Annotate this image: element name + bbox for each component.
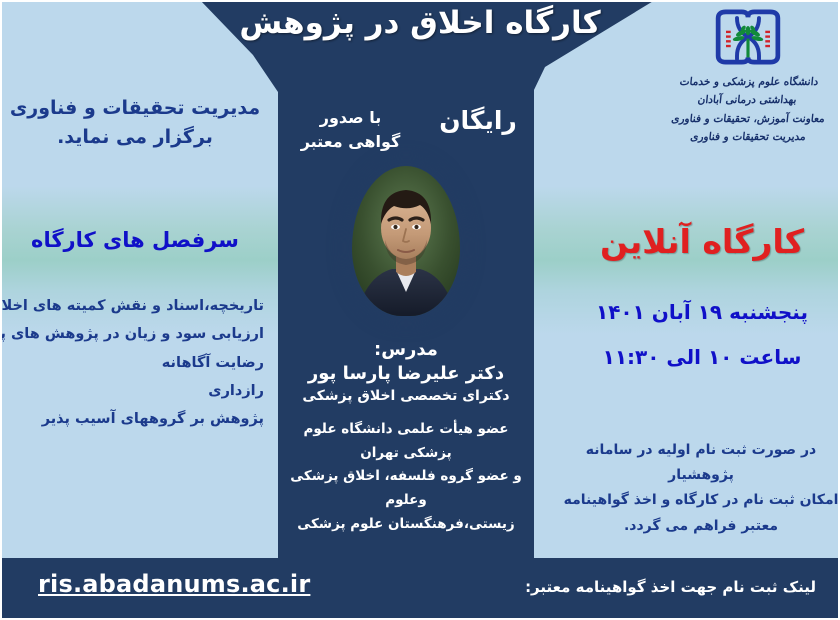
list-item: پژوهش بر گروههای آسیب پذیر (2, 405, 264, 433)
speaker-degree: دکترای تخصصی اخلاق پزشکی (290, 388, 522, 404)
speaker-name: مدرس:دکتر علیرضا پارسا پور (290, 338, 522, 387)
list-item: رازداری (2, 377, 264, 405)
list-item: تاریخچه،اسناد و نقش کمیته های اخلاق در پ… (2, 292, 264, 320)
logo-line: دانشگاه علوم پزشکی و خدمات بهداشتی درمان… (658, 73, 838, 110)
registration-note: در صورت ثبت نام اولیه در سامانه پژوهشیار… (562, 438, 840, 539)
registration-link-label: لینک ثبت نام جهت اخذ گواهینامه معتبر: (525, 578, 816, 596)
speaker-affiliation: عضو هیأت علمی دانشگاه علوم پزشکی تهرانو … (282, 418, 530, 536)
footer-bar: ris.abadanums.ac.ir لینک ثبت نام جهت اخذ… (0, 558, 840, 620)
page-title: کارگاه اخلاق در پژوهش (210, 4, 630, 43)
topics-heading: سرفصل های کارگاه (4, 228, 266, 252)
topics-list: تاریخچه،اسناد و نقش کمیته های اخلاق در پ… (2, 292, 268, 433)
workshop-poster: کارگاه اخلاق در پژوهش رایگان با صدورگواه… (0, 0, 840, 620)
certificate-note: با صدورگواهی معتبر (288, 106, 413, 154)
free-badge: رایگان (418, 106, 538, 135)
university-logo: دانشگاه علوم پزشکی و خدمات بهداشتی درمان… (660, 4, 836, 147)
website-url-link[interactable]: ris.abadanums.ac.ir (38, 570, 310, 598)
list-item: ارزیابی سود و زیان در پژوهش های پزشکی (2, 320, 264, 348)
logo-line: مدیریت تحقیقات و فناوری (659, 128, 837, 146)
university-logo-text: دانشگاه علوم پزشکی و خدمات بهداشتی درمان… (660, 73, 836, 147)
online-workshop-title: کارگاه آنلاین (568, 222, 836, 261)
event-date: پنجشنبه ۱۹ آبان ۱۴۰۱ (568, 300, 836, 324)
list-item: رضایت آگاهانه (2, 349, 264, 377)
organizer-text: مدیریت تحقیقات و فناوریبرگزار می نماید. (4, 94, 266, 153)
event-time: ساعت ۱۰ الی ۱۱:۳۰ (568, 345, 836, 369)
logo-line: معاونت آموزش، تحقیقات و فناوری (659, 110, 837, 128)
university-emblem-icon (708, 4, 788, 70)
